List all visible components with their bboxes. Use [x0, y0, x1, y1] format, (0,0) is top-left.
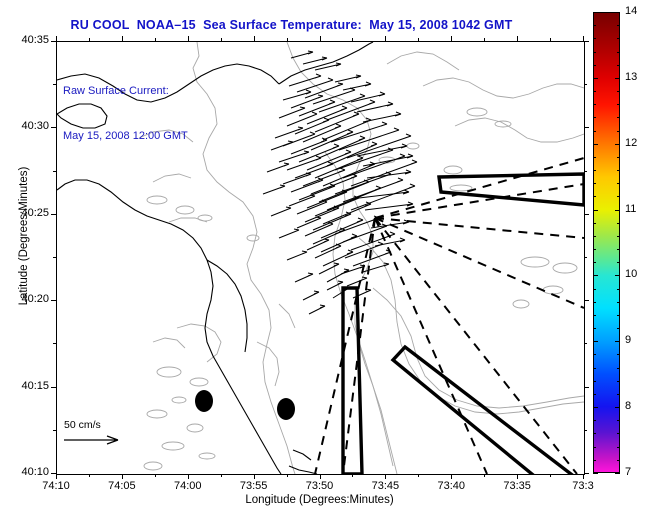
colorbar-minor-tick [593, 117, 596, 118]
colorbar-minor-tick [617, 433, 620, 434]
x-axis-label: Longitude (Degrees:Minutes) [56, 494, 583, 506]
colorbar-minor-tick [617, 104, 620, 105]
arrow-right-icon [62, 433, 128, 447]
colorbar-minor-tick [593, 420, 596, 421]
x-axis-tick-top [320, 36, 321, 41]
y-axis-tick-label: 40:35 [1, 34, 49, 46]
colorbar-gradient [594, 13, 619, 472]
colorbar-tick [615, 78, 620, 79]
x-axis-tick-label: 73:55 [224, 480, 284, 492]
colorbar-tick-label: 11 [625, 203, 636, 215]
colorbar-tick-label: 13 [625, 71, 637, 83]
colorbar-minor-tick [593, 91, 596, 92]
colorbar-minor-tick [593, 289, 596, 290]
x-axis-tick [385, 474, 386, 479]
colorbar-minor-tick [617, 460, 620, 461]
colorbar-minor-tick [593, 170, 596, 171]
colorbar-tick [615, 210, 620, 211]
y-axis-tick [51, 300, 56, 301]
y-axis-tick [51, 473, 56, 474]
x-axis-tick-label: 74:10 [26, 480, 86, 492]
x-axis-minor-tick [484, 474, 485, 477]
colorbar-minor-tick [617, 236, 620, 237]
colorbar-minor-tick [617, 157, 620, 158]
colorbar-minor-tick [617, 65, 620, 66]
colorbar-minor-tick [617, 170, 620, 171]
y-axis-minor-tick [53, 257, 56, 258]
colorbar-minor-tick [617, 91, 620, 92]
x-axis-tick-top [517, 36, 518, 41]
y-axis-tick-label: 40:10 [1, 466, 49, 478]
radar-station-marker [277, 398, 295, 420]
colorbar-minor-tick [617, 196, 620, 197]
colorbar-minor-tick [593, 223, 596, 224]
scale-bar-label: 50 cm/s [62, 419, 128, 431]
colorbar-minor-tick [617, 262, 620, 263]
raw-surface-current-annotation: Raw Surface Current: May 15, 2008 12:00 … [63, 54, 188, 174]
annotation-line-2: May 15, 2008 12:00 GMT [63, 129, 188, 144]
map-plot-area[interactable]: Raw Surface Current: May 15, 2008 12:00 … [56, 41, 585, 475]
x-axis-minor-tick-top [484, 38, 485, 41]
current-vector-field [263, 51, 417, 314]
x-axis-tick-top [451, 36, 452, 41]
colorbar-minor-tick [593, 236, 596, 237]
x-axis-tick [188, 474, 189, 479]
x-axis-tick-top [122, 36, 123, 41]
colorbar-minor-tick [593, 157, 596, 158]
colorbar-minor-tick [593, 394, 596, 395]
colorbar-minor-tick [593, 381, 596, 382]
x-axis-tick-label: 73:35 [487, 480, 547, 492]
colorbar-tick [593, 473, 598, 474]
y-axis-tick-right [584, 41, 589, 42]
colorbar-minor-tick [593, 104, 596, 105]
colorbar-minor-tick [617, 131, 620, 132]
x-axis-tick-top [385, 36, 386, 41]
colorbar-minor-tick [593, 52, 596, 53]
x-axis-tick [517, 474, 518, 479]
radar-station-markers [195, 390, 295, 420]
x-axis-tick-label: 73:40 [421, 480, 481, 492]
colorbar-tick [593, 210, 598, 211]
colorbar-minor-tick [593, 196, 596, 197]
colorbar-minor-tick [593, 368, 596, 369]
colorbar-tick-label: 8 [625, 400, 631, 412]
colorbar-minor-tick [593, 183, 596, 184]
colorbar-minor-tick [617, 117, 620, 118]
x-axis-minor-tick [287, 474, 288, 477]
colorbar[interactable] [593, 12, 620, 473]
x-axis-tick-label: 73:50 [290, 480, 350, 492]
colorbar-tick-label: 12 [625, 137, 637, 149]
y-axis-minor-tick-right [584, 84, 587, 85]
x-axis-tick-label: 73:45 [355, 480, 415, 492]
x-axis-minor-tick-top [89, 38, 90, 41]
colorbar-minor-tick [593, 447, 596, 448]
x-axis-tick-label: 73:3 [553, 480, 613, 492]
colorbar-minor-tick [617, 368, 620, 369]
colorbar-minor-tick [617, 249, 620, 250]
colorbar-minor-tick [593, 249, 596, 250]
colorbar-minor-tick [593, 315, 596, 316]
colorbar-minor-tick [593, 262, 596, 263]
radar-station-marker [195, 390, 213, 412]
colorbar-tick-label: 9 [625, 334, 631, 346]
colorbar-minor-tick [593, 328, 596, 329]
colorbar-tick-label: 7 [625, 466, 631, 478]
x-axis-tick-top [188, 36, 189, 41]
x-axis-tick-top [254, 36, 255, 41]
colorbar-minor-tick [617, 223, 620, 224]
y-axis-tick-right [584, 127, 589, 128]
x-axis-tick-label: 74:00 [158, 480, 218, 492]
x-axis-tick [451, 474, 452, 479]
colorbar-tick [593, 78, 598, 79]
x-axis-minor-tick [418, 474, 419, 477]
x-axis-minor-tick-top [155, 38, 156, 41]
colorbar-minor-tick [617, 25, 620, 26]
colorbar-minor-tick [593, 131, 596, 132]
page-title: RU COOL NOAA–15 Sea Surface Temperature:… [0, 18, 583, 32]
x-axis-minor-tick [352, 474, 353, 477]
colorbar-minor-tick [617, 289, 620, 290]
y-axis-minor-tick-right [584, 343, 587, 344]
y-axis-minor-tick [53, 84, 56, 85]
colorbar-tick [593, 144, 598, 145]
colorbar-minor-tick [617, 354, 620, 355]
colorbar-tick-label: 14 [625, 5, 637, 17]
x-axis-minor-tick-top [352, 38, 353, 41]
colorbar-minor-tick [617, 381, 620, 382]
colorbar-tick [615, 144, 620, 145]
x-axis-minor-tick-top [221, 38, 222, 41]
colorbar-tick [615, 12, 620, 13]
colorbar-minor-tick [593, 38, 596, 39]
y-axis-minor-tick-right [584, 430, 587, 431]
y-axis-tick [51, 387, 56, 388]
colorbar-tick [615, 407, 620, 408]
x-axis-tick-top [56, 36, 57, 41]
y-axis-tick [51, 214, 56, 215]
y-axis-tick [51, 127, 56, 128]
x-axis-minor-tick [89, 474, 90, 477]
colorbar-minor-tick [617, 328, 620, 329]
colorbar-tick [615, 275, 620, 276]
y-axis-tick-right [584, 473, 589, 474]
x-axis-tick [320, 474, 321, 479]
y-axis-minor-tick [53, 343, 56, 344]
colorbar-minor-tick [617, 447, 620, 448]
colorbar-minor-tick [617, 38, 620, 39]
x-axis-tick-label: 74:05 [92, 480, 152, 492]
colorbar-minor-tick [617, 394, 620, 395]
x-axis-tick [583, 474, 584, 479]
colorbar-tick-label: 10 [625, 268, 637, 280]
colorbar-tick [593, 407, 598, 408]
colorbar-tick [615, 473, 620, 474]
figure: RU COOL NOAA–15 Sea Surface Temperature:… [0, 0, 651, 519]
colorbar-minor-tick [617, 302, 620, 303]
x-axis-tick [56, 474, 57, 479]
annotation-line-1: Raw Surface Current: [63, 84, 188, 99]
colorbar-minor-tick [593, 354, 596, 355]
y-axis-minor-tick-right [584, 257, 587, 258]
y-axis-minor-tick [53, 430, 56, 431]
y-axis-tick [51, 41, 56, 42]
colorbar-minor-tick [617, 315, 620, 316]
y-axis-tick-right [584, 387, 589, 388]
x-axis-minor-tick-top [287, 38, 288, 41]
x-axis-tick [122, 474, 123, 479]
y-axis-label: Latitude (Degrees:Minutes) [18, 136, 30, 336]
x-axis-minor-tick [550, 474, 551, 477]
colorbar-minor-tick [593, 433, 596, 434]
x-axis-minor-tick [155, 474, 156, 477]
x-axis-minor-tick-top [550, 38, 551, 41]
x-axis-minor-tick-top [418, 38, 419, 41]
y-axis-minor-tick [53, 171, 56, 172]
x-axis-tick [254, 474, 255, 479]
y-axis-tick-label: 40:15 [1, 380, 49, 392]
colorbar-minor-tick [593, 460, 596, 461]
y-axis-tick-label: 40:30 [1, 120, 49, 132]
colorbar-minor-tick [593, 302, 596, 303]
x-axis-minor-tick [221, 474, 222, 477]
colorbar-tick [593, 275, 598, 276]
colorbar-minor-tick [617, 52, 620, 53]
colorbar-minor-tick [593, 65, 596, 66]
colorbar-tick [615, 341, 620, 342]
colorbar-minor-tick [617, 420, 620, 421]
colorbar-minor-tick [617, 183, 620, 184]
colorbar-tick [593, 341, 598, 342]
y-axis-tick-right [584, 300, 589, 301]
velocity-scale-bar: 50 cm/s [62, 419, 128, 452]
y-axis-tick-right [584, 214, 589, 215]
colorbar-tick [593, 12, 598, 13]
y-axis-minor-tick-right [584, 171, 587, 172]
colorbar-minor-tick [593, 25, 596, 26]
